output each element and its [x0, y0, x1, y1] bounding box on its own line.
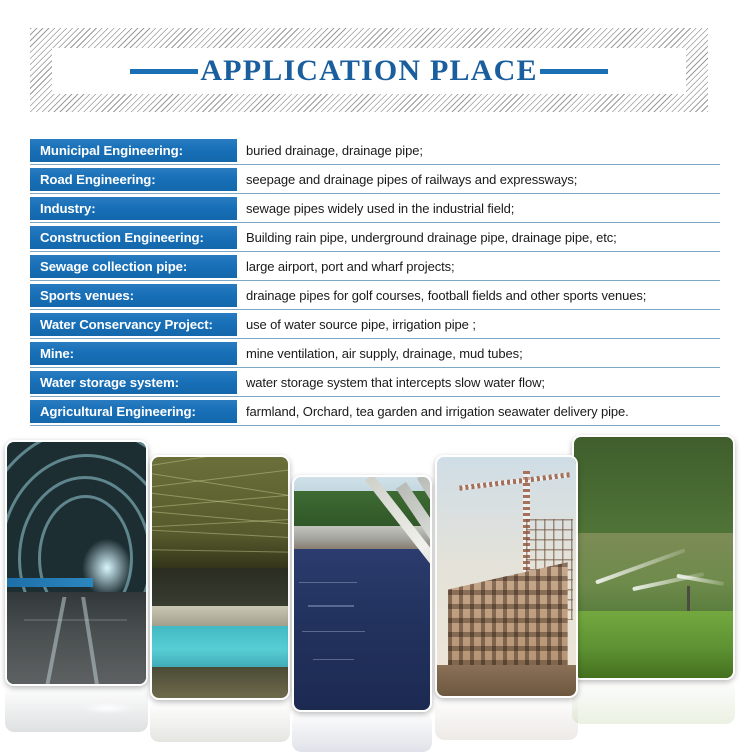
list-item: Water storage system: water storage syst…: [30, 370, 720, 399]
row-underline: [30, 222, 720, 223]
spec-description: drainage pipes for golf courses, footbal…: [237, 284, 720, 307]
spec-label: Municipal Engineering:: [30, 139, 237, 162]
spec-label: Road Engineering:: [30, 168, 237, 191]
row-underline: [30, 164, 720, 165]
swimming-pool-photo-reflection: [150, 700, 290, 742]
title-rule-right: [540, 69, 608, 74]
spec-description: buried drainage, drainage pipe;: [237, 139, 720, 162]
row-underline: [30, 251, 720, 252]
row-underline: [30, 193, 720, 194]
construction-site-photo-reflection: [435, 698, 578, 740]
row-underline: [30, 280, 720, 281]
list-item: Construction Engineering: Building rain …: [30, 225, 720, 254]
title-rule-left: [130, 69, 198, 74]
spec-label: Mine:: [30, 342, 237, 365]
header-title-box: APPLICATION PLACE: [52, 48, 686, 94]
list-item: Agricultural Engineering: farmland, Orch…: [30, 399, 720, 428]
spec-label: Water Conservancy Project:: [30, 313, 237, 336]
construction-site-photo: [435, 455, 578, 698]
list-item: Road Engineering: seepage and drainage p…: [30, 167, 720, 196]
spec-description: Building rain pipe, underground drainage…: [237, 226, 720, 249]
list-item: Sewage collection pipe: large airport, p…: [30, 254, 720, 283]
irrigation-photo: [572, 435, 735, 680]
row-underline: [30, 338, 720, 339]
spec-description: water storage system that intercepts slo…: [237, 371, 720, 394]
spec-label: Sports venues:: [30, 284, 237, 307]
water-treatment-photo-reflection: [292, 712, 432, 752]
tunnel-photo: [5, 440, 148, 686]
application-place-list: Municipal Engineering: buried drainage, …: [30, 138, 720, 428]
application-photo-strip: [0, 425, 750, 750]
list-item: Municipal Engineering: buried drainage, …: [30, 138, 720, 167]
spec-label: Industry:: [30, 197, 237, 220]
list-item: Sports venues: drainage pipes for golf c…: [30, 283, 720, 312]
spec-description: large airport, port and wharf projects;: [237, 255, 720, 278]
spec-description: seepage and drainage pipes of railways a…: [237, 168, 720, 191]
row-underline: [30, 309, 720, 310]
spec-description: mine ventilation, air supply, drainage, …: [237, 342, 720, 365]
list-item: Water Conservancy Project: use of water …: [30, 312, 720, 341]
spec-description: use of water source pipe, irrigation pip…: [237, 313, 720, 336]
spec-description: sewage pipes widely used in the industri…: [237, 197, 720, 220]
spec-label: Construction Engineering:: [30, 226, 237, 249]
irrigation-photo-reflection: [572, 680, 735, 724]
spec-label: Agricultural Engineering:: [30, 400, 237, 423]
page-title: APPLICATION PLACE: [200, 56, 537, 86]
spec-label: Sewage collection pipe:: [30, 255, 237, 278]
spec-label: Water storage system:: [30, 371, 237, 394]
water-treatment-photo: [292, 475, 432, 712]
tunnel-photo-reflection: [5, 686, 148, 732]
row-underline: [30, 396, 720, 397]
list-item: Mine: mine ventilation, air supply, drai…: [30, 341, 720, 370]
row-underline: [30, 367, 720, 368]
list-item: Industry: sewage pipes widely used in th…: [30, 196, 720, 225]
spec-description: farmland, Orchard, tea garden and irriga…: [237, 400, 720, 423]
swimming-pool-photo: [150, 455, 290, 700]
